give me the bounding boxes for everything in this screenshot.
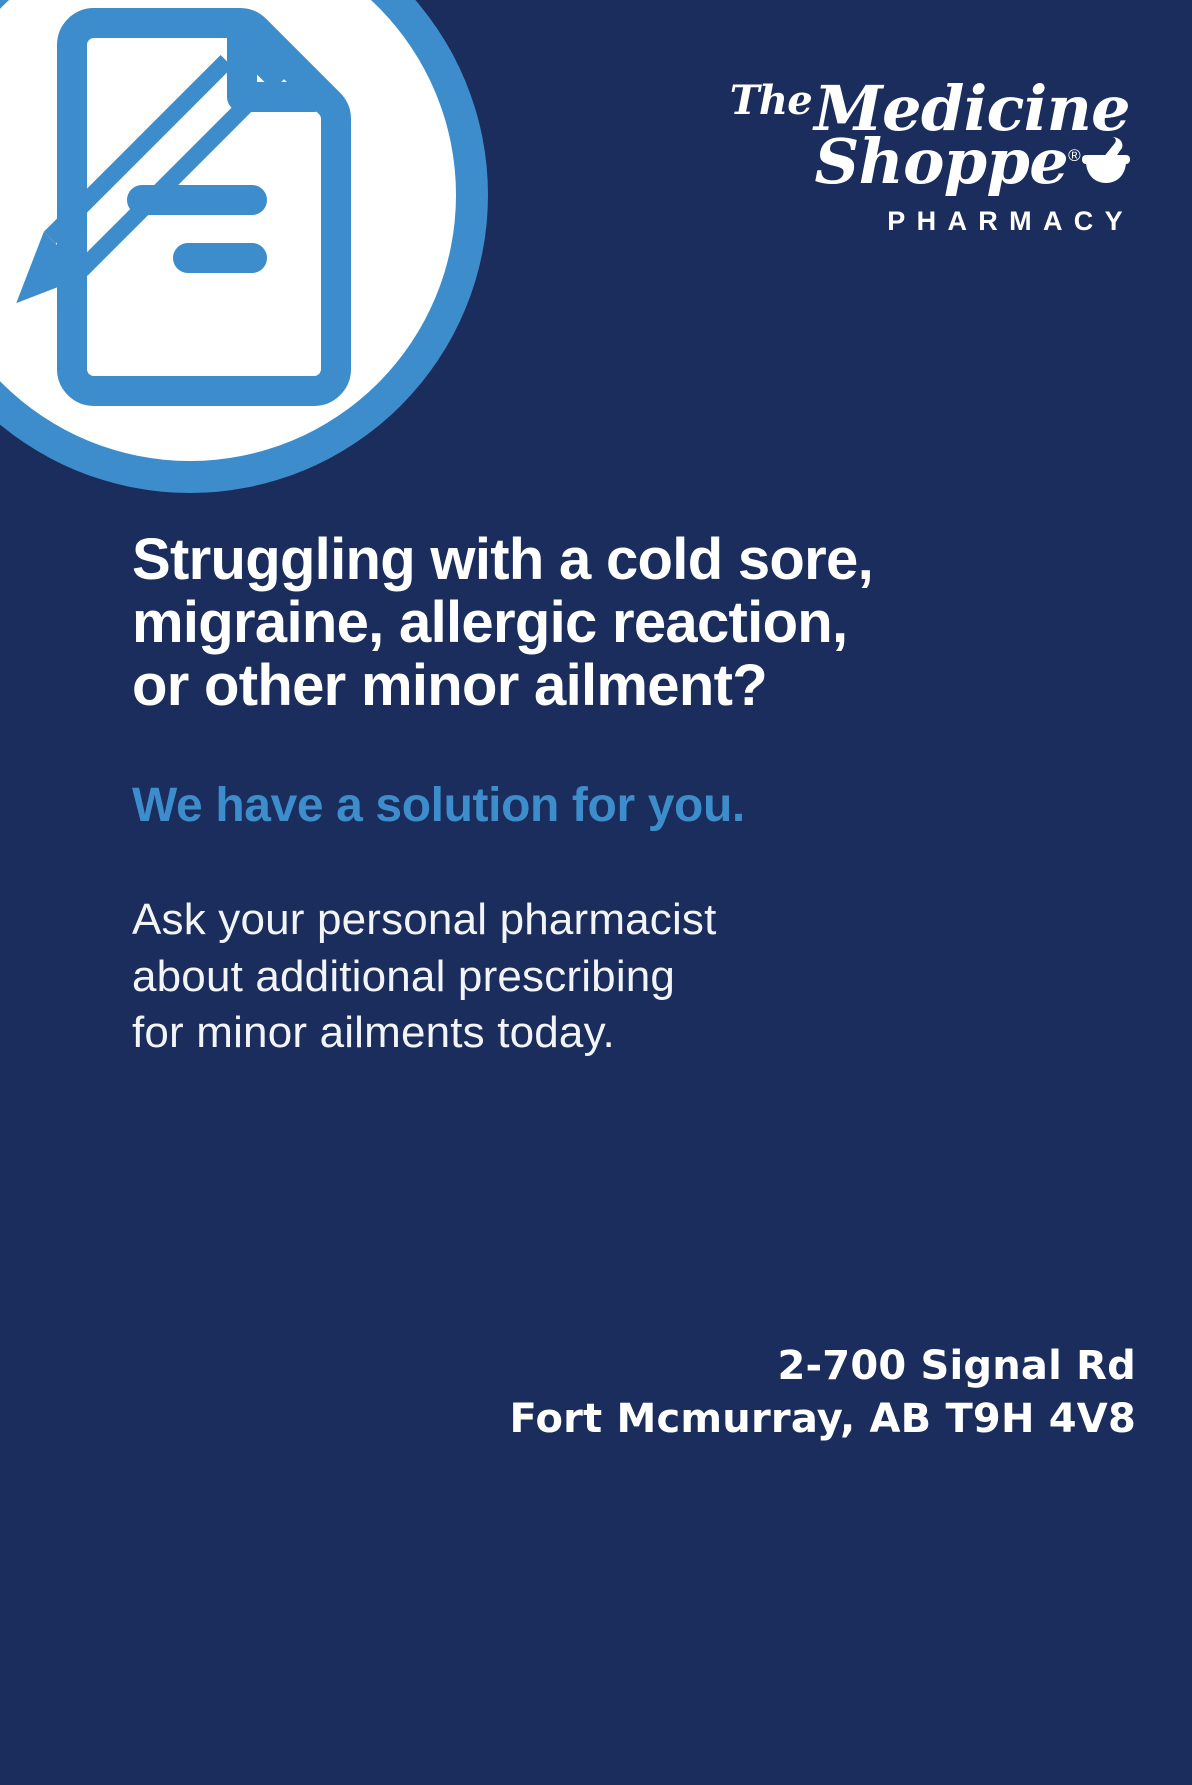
badge-circle bbox=[0, 0, 490, 495]
body-copy-line-3: for minor ailments today. bbox=[132, 1005, 1062, 1061]
store-address: 2-700 Signal Rd Fort Mcmurray, AB T9H 4V… bbox=[510, 1340, 1136, 1447]
document-with-pencil-icon bbox=[0, 0, 490, 495]
logo-the: The bbox=[730, 77, 814, 124]
body-copy-line-1: Ask your personal pharmacist bbox=[132, 892, 1062, 948]
address-line-street: 2-700 Signal Rd bbox=[510, 1340, 1136, 1394]
address-line-city: Fort Mcmurray, AB T9H 4V8 bbox=[510, 1393, 1136, 1447]
logo-line-shoppe: Shoppe® bbox=[714, 132, 1134, 196]
brand-logo: TheMedicine Shoppe® PHARMACY bbox=[714, 80, 1134, 237]
poster-canvas: TheMedicine Shoppe® PHARMACY Struggling … bbox=[0, 0, 1192, 1785]
content-block: Struggling with a cold sore, migraine, a… bbox=[132, 528, 1062, 1061]
mortar-and-pestle-icon bbox=[1082, 135, 1130, 196]
logo-pharmacy-word: PHARMACY bbox=[714, 206, 1134, 237]
headline-line-1: Struggling with a cold sore, bbox=[132, 528, 1062, 591]
logo-shoppe: Shoppe bbox=[814, 125, 1068, 198]
headline: Struggling with a cold sore, migraine, a… bbox=[132, 528, 1062, 718]
body-copy-line-2: about additional prescribing bbox=[132, 949, 1062, 1005]
headline-line-2: migraine, allergic reaction, bbox=[132, 591, 1062, 654]
headline-line-3: or other minor ailment? bbox=[132, 654, 1062, 717]
registered-trademark-icon: ® bbox=[1068, 146, 1080, 165]
subheadline: We have a solution for you. bbox=[132, 780, 1062, 833]
body-copy: Ask your personal pharmacist about addit… bbox=[132, 892, 1062, 1061]
